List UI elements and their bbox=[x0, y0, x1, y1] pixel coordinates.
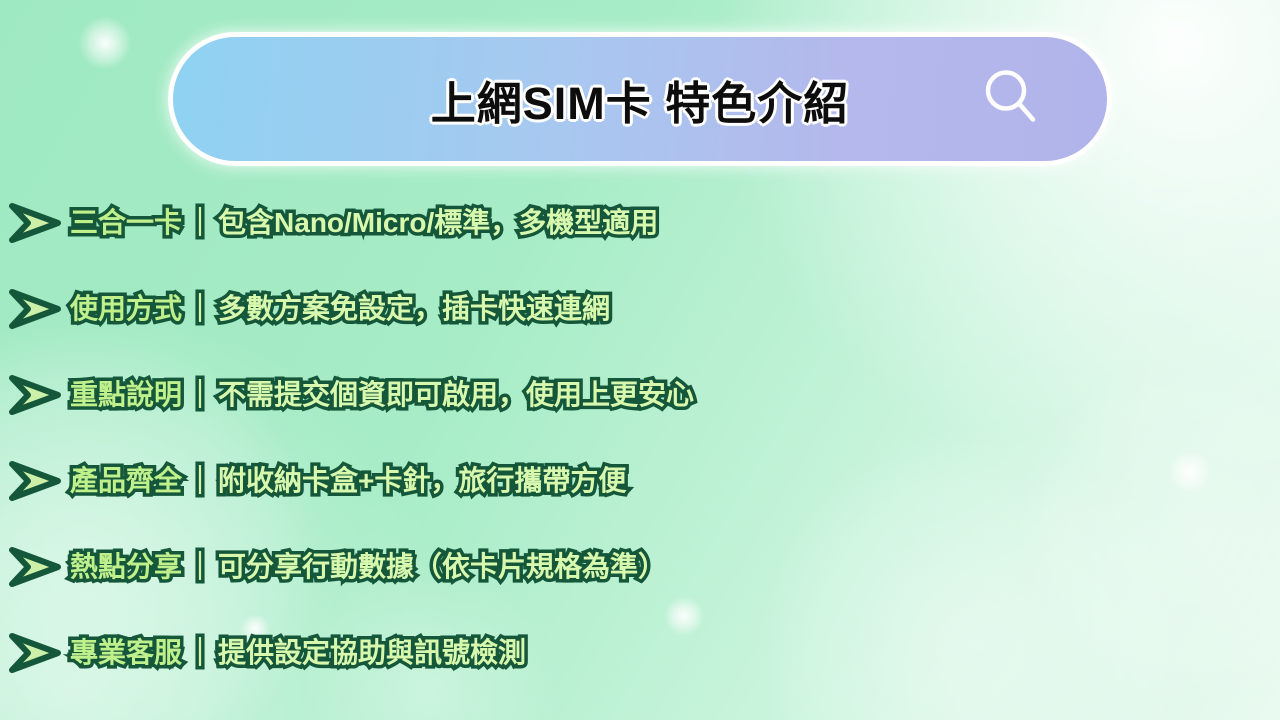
double-chevron-arrow-icon bbox=[8, 286, 64, 332]
feature-row-3: 重點說明 ｜ 不需提交個資即可啟用，使用上更安心 bbox=[0, 352, 1280, 438]
feature-description: 可分享行動數據（依卡片規格為準） bbox=[218, 553, 666, 581]
feature-description: 不需提交個資即可啟用，使用上更安心 bbox=[218, 381, 694, 409]
double-chevron-arrow-icon bbox=[8, 458, 64, 504]
feature-separator: ｜ bbox=[182, 381, 218, 409]
feature-label: 使用方式 bbox=[70, 295, 182, 323]
feature-separator: ｜ bbox=[182, 467, 218, 495]
header-search-bar[interactable]: 上網SIM卡 特色介紹 bbox=[168, 32, 1112, 166]
search-icon[interactable] bbox=[981, 66, 1039, 133]
feature-description: 包含Nano/Micro/標準，多機型適用 bbox=[218, 209, 658, 237]
double-chevron-arrow-icon bbox=[8, 544, 64, 590]
double-chevron-arrow-icon bbox=[8, 630, 64, 676]
feature-description: 附收納卡盒+卡針，旅行攜帶方便 bbox=[218, 467, 626, 495]
feature-description: 多數方案免設定，插卡快速連網 bbox=[218, 295, 610, 323]
feature-description: 提供設定協助與訊號檢測 bbox=[218, 639, 526, 667]
page-title: 上網SIM卡 特色介紹 bbox=[431, 67, 850, 132]
feature-row-1: 三合一卡 ｜ 包含Nano/Micro/標準，多機型適用 bbox=[0, 180, 1280, 266]
feature-row-4: 產品齊全 ｜ 附收納卡盒+卡針，旅行攜帶方便 bbox=[0, 438, 1280, 524]
double-chevron-arrow-icon bbox=[8, 200, 64, 246]
feature-label: 三合一卡 bbox=[70, 209, 182, 237]
feature-list: 三合一卡 ｜ 包含Nano/Micro/標準，多機型適用 使用方式 ｜ 多數方案… bbox=[0, 180, 1280, 696]
feature-row-6: 專業客服 ｜ 提供設定協助與訊號檢測 bbox=[0, 610, 1280, 696]
feature-separator: ｜ bbox=[182, 639, 218, 667]
feature-label: 專業客服 bbox=[70, 639, 182, 667]
sparkle-dot bbox=[78, 16, 132, 70]
feature-row-5: 熱點分享 ｜ 可分享行動數據（依卡片規格為準） bbox=[0, 524, 1280, 610]
feature-label: 產品齊全 bbox=[70, 467, 182, 495]
poster-canvas: 上網SIM卡 特色介紹 三合一卡 ｜ 包含Nano/Micro/標準，多機型適用 bbox=[0, 0, 1280, 720]
feature-separator: ｜ bbox=[182, 553, 218, 581]
feature-label: 熱點分享 bbox=[70, 553, 182, 581]
feature-label: 重點說明 bbox=[70, 381, 182, 409]
feature-row-2: 使用方式 ｜ 多數方案免設定，插卡快速連網 bbox=[0, 266, 1280, 352]
double-chevron-arrow-icon bbox=[8, 372, 64, 418]
feature-separator: ｜ bbox=[182, 209, 218, 237]
feature-separator: ｜ bbox=[182, 295, 218, 323]
